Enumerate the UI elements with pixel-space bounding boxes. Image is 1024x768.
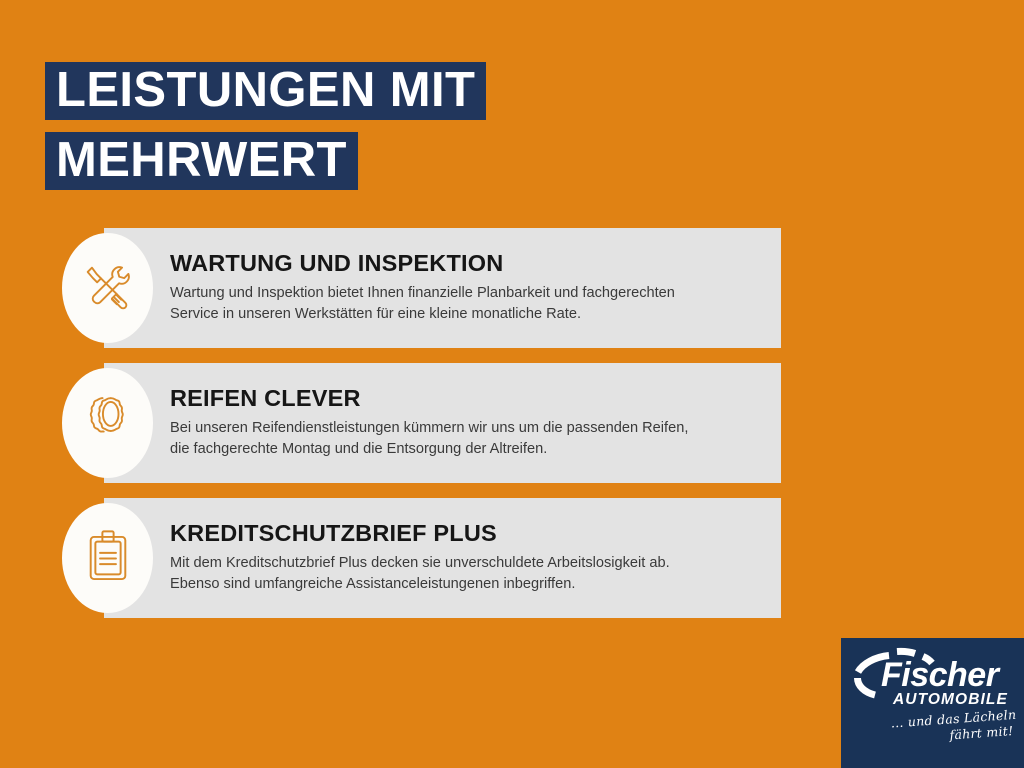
logo-subbrand-text: AUTOMOBILE — [892, 691, 1008, 708]
logo-brand-text: Fischer — [881, 656, 1001, 694]
card-description-line-2: die fachgerechte Montag und die Entsorgu… — [170, 441, 547, 457]
card-text: WARTUNG UND INSPEKTION Wartung und Inspe… — [170, 228, 994, 348]
card-description-line-2: Ebenso sind umfangreiche Assistanceleist… — [170, 576, 575, 592]
card-description-line-1: Wartung und Inspektion bietet Ihnen fina… — [170, 285, 675, 301]
service-card-reifen-clever[interactable]: REIFEN CLEVER Bei unseren Reifendienstle… — [0, 363, 1024, 483]
clipboard-icon — [62, 503, 153, 613]
page-title: LEISTUNGEN MIT MEHRWERT — [45, 62, 486, 190]
wrench-screwdriver-icon — [62, 233, 153, 343]
fischer-logo-mark: Fischer AUTOMOBILE — [849, 642, 1019, 718]
card-title: KREDITSCHUTZBRIEF PLUS — [170, 521, 994, 546]
service-card-wartung-und-inspektion[interactable]: WARTUNG UND INSPEKTION Wartung und Inspe… — [0, 228, 1024, 348]
tire-icon — [62, 368, 153, 478]
service-card-kreditschutzbrief-plus[interactable]: KREDITSCHUTZBRIEF PLUS Mit dem Kreditsch… — [0, 498, 1024, 618]
card-title: WARTUNG UND INSPEKTION — [170, 251, 994, 276]
card-title: REIFEN CLEVER — [170, 386, 994, 411]
page-title-line-1: LEISTUNGEN MIT — [45, 62, 486, 120]
card-description-line-1: Bei unseren Reifendienstleistungen kümme… — [170, 420, 688, 436]
card-description-line-1: Mit dem Kreditschutzbrief Plus decken si… — [170, 555, 670, 571]
service-card-list: WARTUNG UND INSPEKTION Wartung und Inspe… — [0, 228, 1024, 633]
fischer-automobile-logo: Fischer AUTOMOBILE ... und das Lächeln f… — [841, 638, 1024, 768]
card-description: Wartung und Inspektion bietet Ihnen fina… — [170, 283, 770, 325]
page-title-line-2: MEHRWERT — [45, 132, 358, 190]
card-description: Mit dem Kreditschutzbrief Plus decken si… — [170, 553, 770, 595]
card-text: KREDITSCHUTZBRIEF PLUS Mit dem Kreditsch… — [170, 498, 994, 618]
card-description: Bei unseren Reifendienstleistungen kümme… — [170, 418, 770, 460]
card-text: REIFEN CLEVER Bei unseren Reifendienstle… — [170, 363, 994, 483]
card-description-line-2: Service in unseren Werkstätten für eine … — [170, 306, 581, 322]
